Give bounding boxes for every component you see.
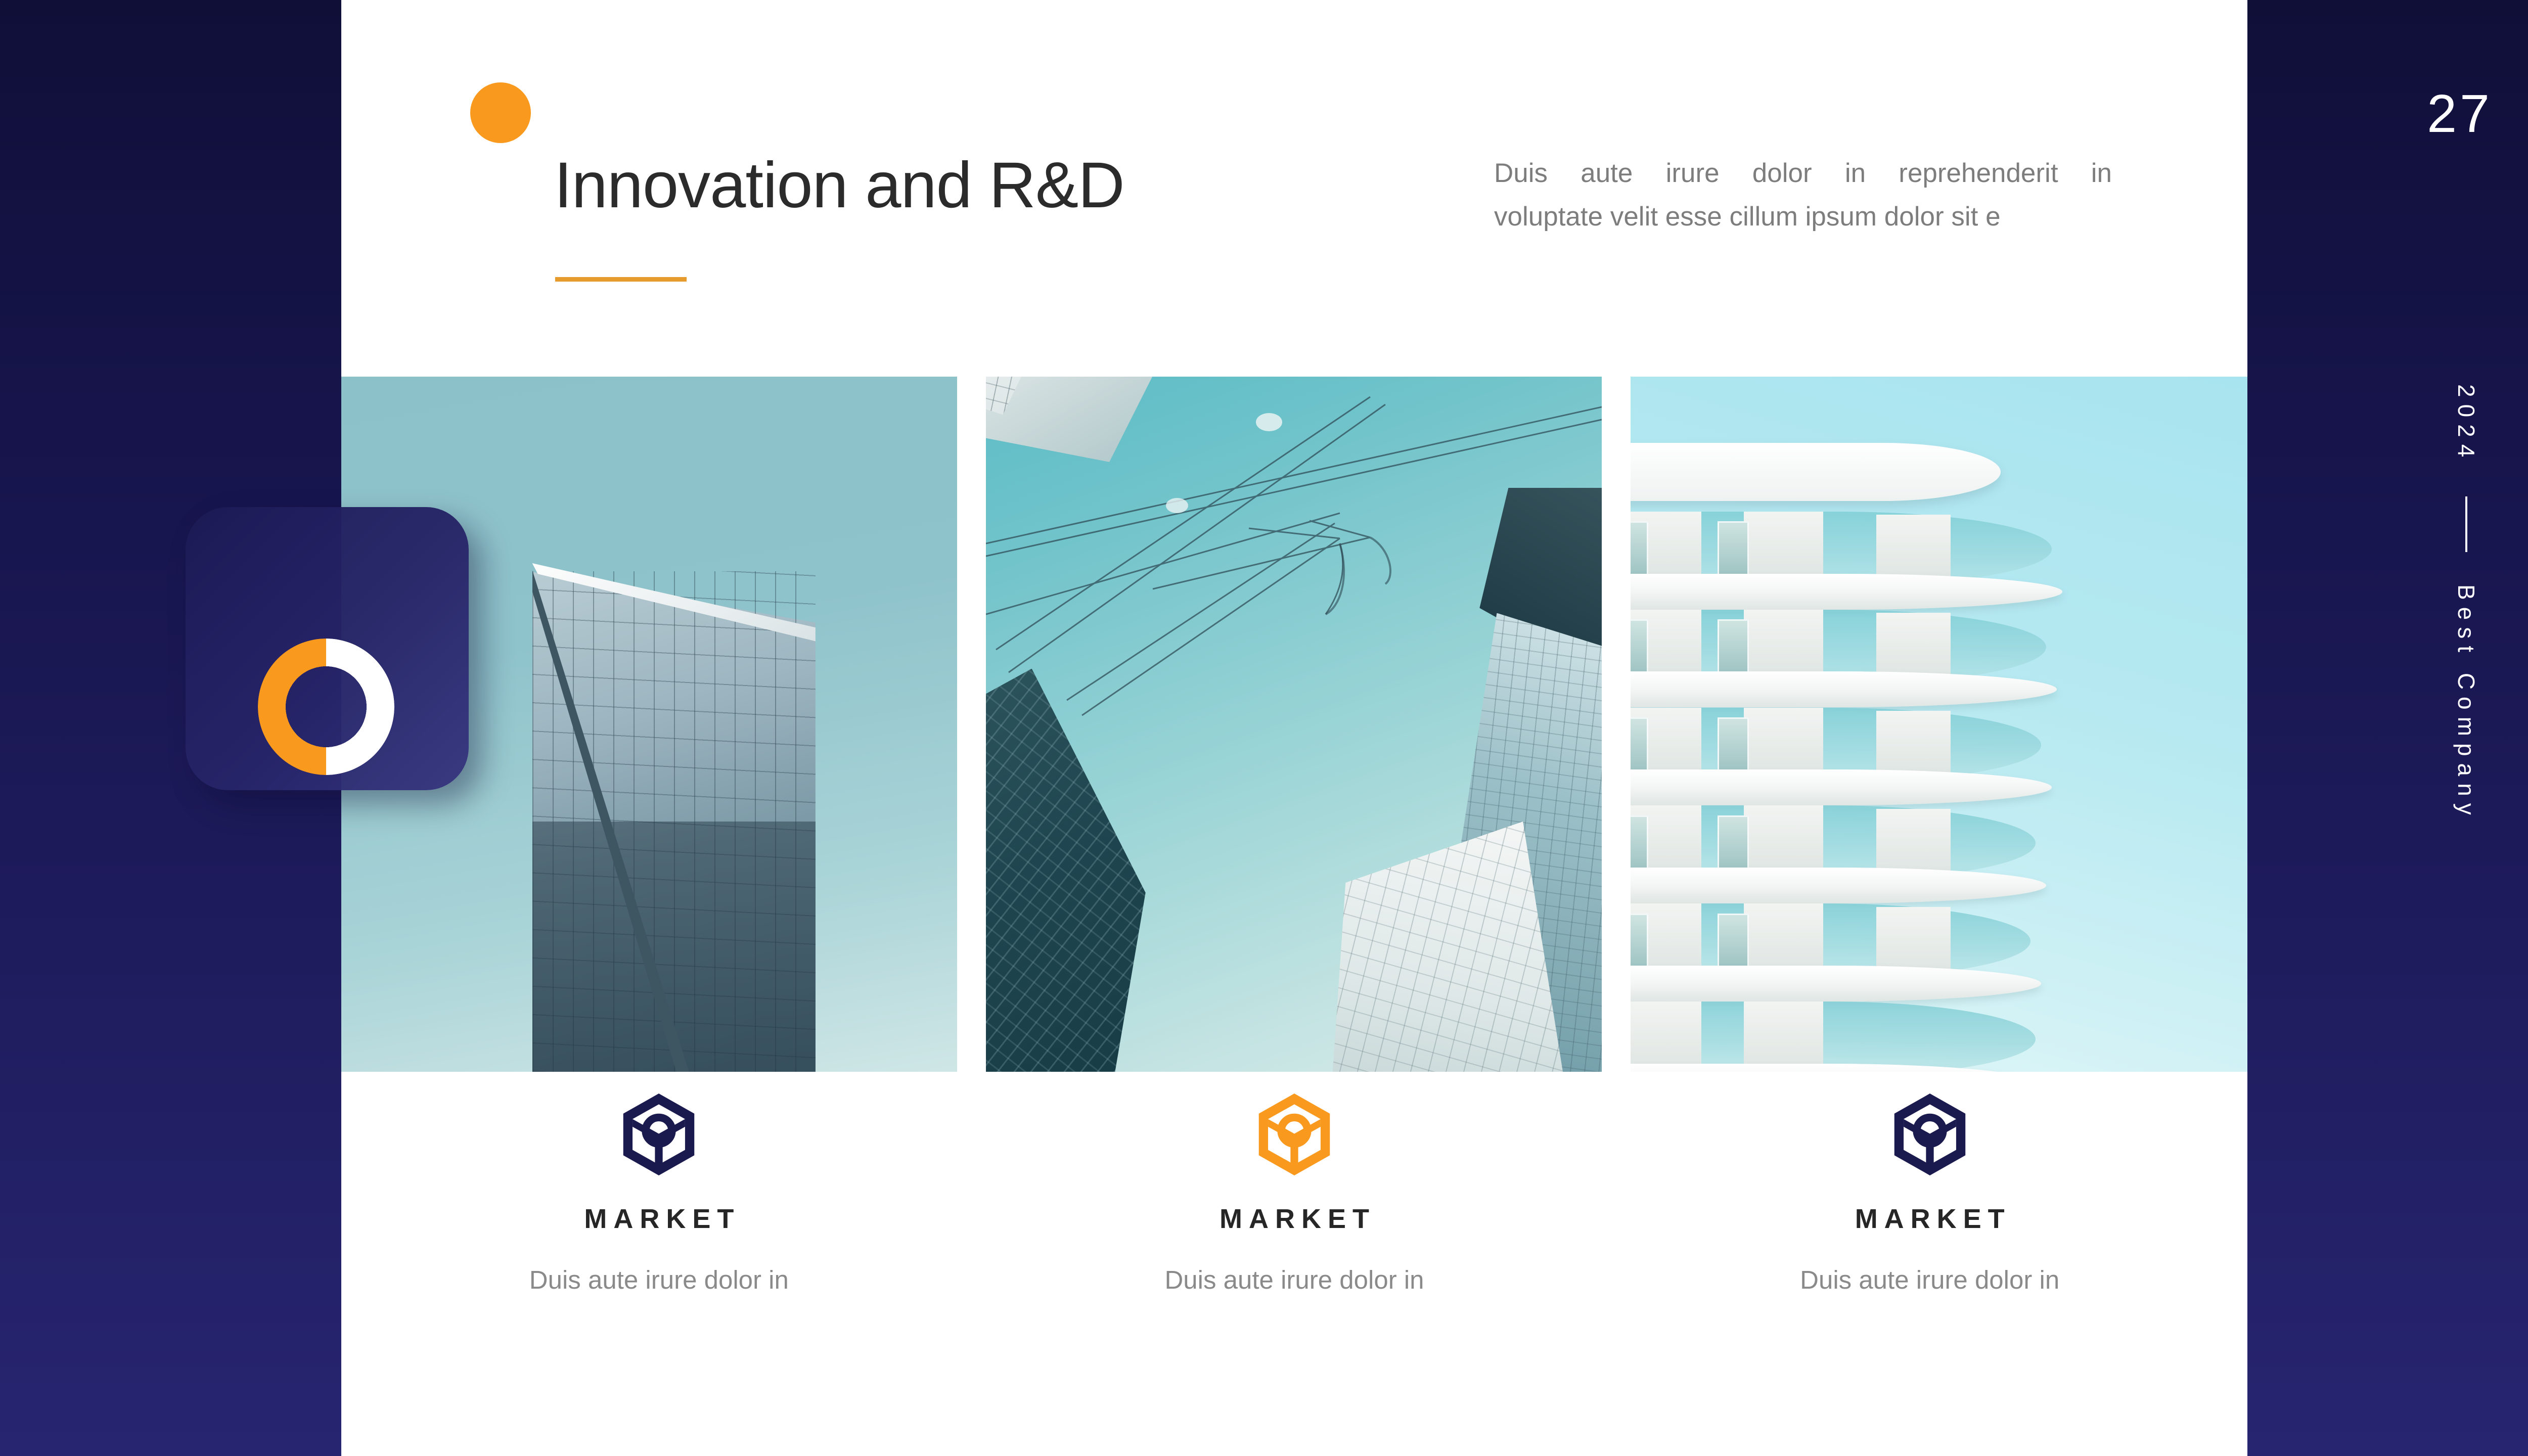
rail-company: Best Company xyxy=(2453,584,2480,822)
side-rail: 2024 Best Company xyxy=(2436,384,2497,822)
header-paragraph-line-1: Duis aute irure dolor in reprehenderit i… xyxy=(1494,152,2112,195)
feature-title: MARKET xyxy=(577,1203,740,1235)
photo-3-window-6 xyxy=(1718,717,1749,773)
feature-title: MARKET xyxy=(1848,1203,2011,1235)
photo-3-wall-6a xyxy=(1631,1002,1701,1072)
feature-description: Duis aute irure dolor in xyxy=(1164,1265,1424,1295)
gallery-photo-2[interactable] xyxy=(986,377,1602,1072)
orange-dot-icon xyxy=(470,82,531,143)
photo-3-slab-1 xyxy=(1631,574,2062,610)
header-paragraph: Duis aute irure dolor in reprehenderit i… xyxy=(1494,152,2112,239)
photo-3-building xyxy=(1631,446,2136,1072)
photo-3-window-2 xyxy=(1718,521,1749,577)
slide-canvas: Innovation and R&D Duis aute irure dolor… xyxy=(0,0,2528,1456)
gallery-photo-3[interactable] xyxy=(1631,377,2247,1072)
photo-3-wall-6b xyxy=(1744,1002,1823,1072)
rail-divider xyxy=(2465,496,2467,552)
feature-column-1[interactable]: MARKET Duis aute irure dolor in xyxy=(341,1092,977,1375)
photo-3-slab-2 xyxy=(1631,671,2057,707)
feature-title: MARKET xyxy=(1213,1203,1376,1235)
photo-3-window-7 xyxy=(1631,815,1648,871)
photo-3-window-10 xyxy=(1718,914,1749,969)
header-paragraph-line-2: voluptate velit esse cillum ipsum dolor … xyxy=(1494,195,2112,239)
page-number: 27 xyxy=(2427,83,2493,145)
feature-column-2[interactable]: MARKET Duis aute irure dolor in xyxy=(977,1092,1612,1375)
photo-3-slab-3 xyxy=(1631,769,2052,805)
feature-description: Duis aute irure dolor in xyxy=(1800,1265,2059,1295)
photo-3-window-5 xyxy=(1631,717,1648,773)
title-underline-rule xyxy=(555,277,687,282)
hexagon-cube-icon xyxy=(616,1092,701,1177)
photo-3-window-1 xyxy=(1631,521,1648,577)
photo-2-cables xyxy=(986,377,1602,1072)
rail-year: 2024 xyxy=(2453,384,2480,464)
hexagon-cube-icon xyxy=(1887,1092,1972,1177)
photo-3-window-3 xyxy=(1631,619,1648,675)
photo-3-window-8 xyxy=(1718,815,1749,871)
feature-description: Duis aute irure dolor in xyxy=(529,1265,789,1295)
photo-3-window-4 xyxy=(1718,619,1749,675)
donut-ring-icon xyxy=(258,639,394,775)
feature-columns: MARKET Duis aute irure dolor in MARKET D… xyxy=(341,1092,2247,1375)
page-title: Innovation and R&D xyxy=(554,148,1124,222)
photo-3-window-9 xyxy=(1631,914,1648,969)
photo-3-slab-4 xyxy=(1631,868,2046,903)
hexagon-cube-icon xyxy=(1252,1092,1337,1177)
feature-column-3[interactable]: MARKET Duis aute irure dolor in xyxy=(1612,1092,2247,1375)
photo-3-slab-5 xyxy=(1631,966,2041,1002)
photo-gallery xyxy=(341,377,2247,1072)
